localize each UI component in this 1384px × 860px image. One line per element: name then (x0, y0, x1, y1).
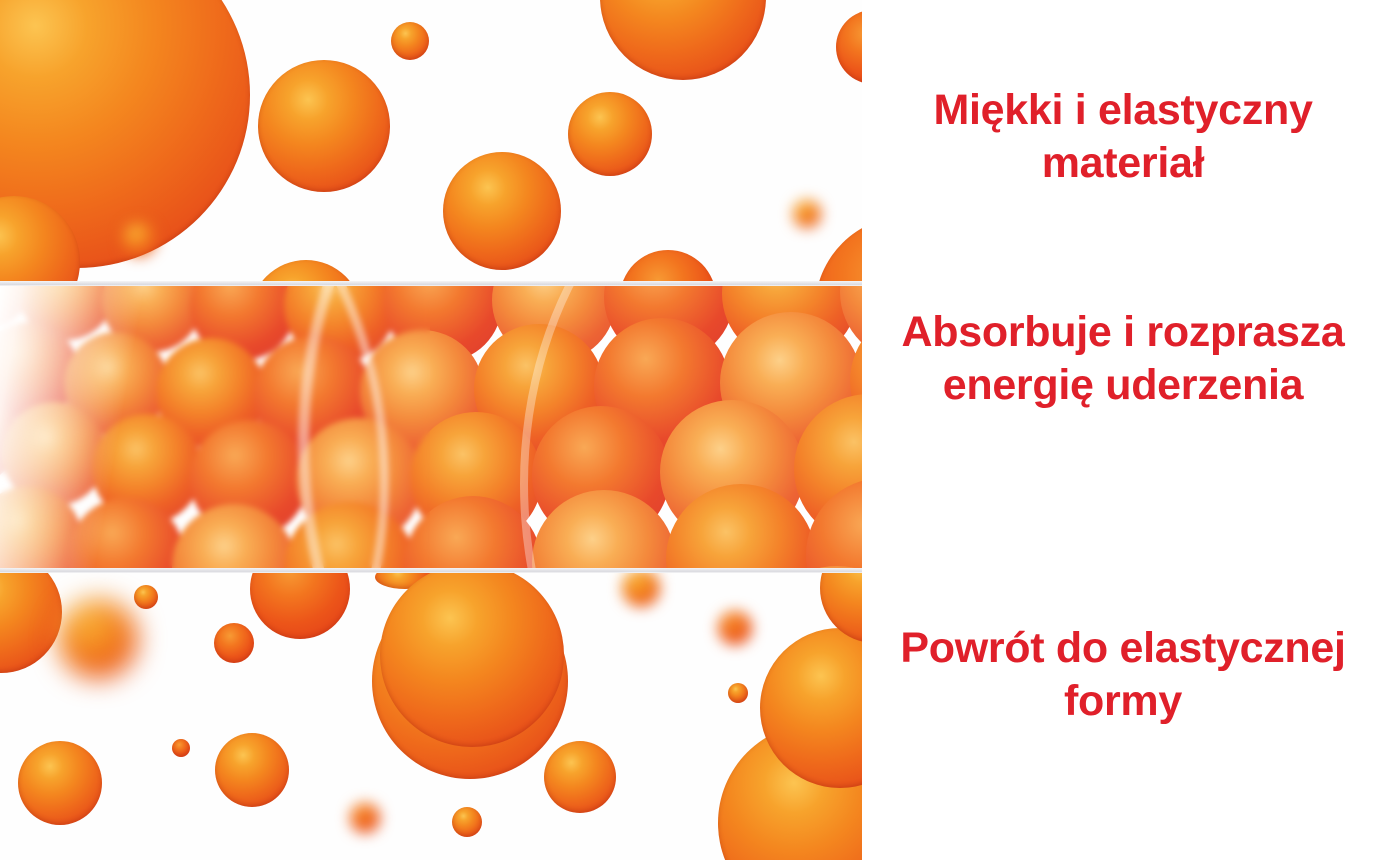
sphere (836, 10, 862, 84)
sphere (622, 573, 660, 607)
feature-returns-to-elastic-shape: Powrót do elastycznej formy (862, 622, 1384, 728)
sphere (134, 585, 158, 609)
sphere (250, 260, 362, 281)
sphere (391, 22, 429, 60)
sphere (350, 803, 380, 833)
sphere (214, 623, 254, 663)
sphere (544, 741, 616, 813)
feature-soft-elastic-material: Miękki i elastyczny materiał (862, 84, 1384, 190)
sphere (718, 611, 752, 645)
product-image-column (0, 0, 862, 860)
sphere (0, 573, 62, 673)
sphere (815, 216, 862, 281)
top-panel (0, 0, 862, 281)
foam-cell-grid (0, 286, 862, 568)
sphere (58, 599, 138, 679)
promo-graphic: Miękki i elastyczny materiał Absorbuje i… (0, 0, 1384, 860)
sphere (568, 92, 652, 176)
middle-panel-foam-structure (0, 286, 862, 568)
sphere (728, 683, 748, 703)
sphere (600, 0, 766, 80)
sphere (258, 60, 390, 192)
sphere (172, 739, 190, 757)
sphere (443, 152, 561, 270)
feature-absorbs-disperses-impact-energy: Absorbuje i rozprasza energię uderzenia (862, 306, 1384, 412)
sphere (793, 200, 821, 228)
sphere (620, 250, 716, 281)
sphere (215, 733, 289, 807)
sphere (122, 222, 156, 256)
feature-text-column: Miękki i elastyczny materiał Absorbuje i… (862, 0, 1384, 860)
bottom-panel (0, 573, 862, 860)
sphere (18, 741, 102, 825)
sphere (250, 573, 350, 639)
sphere (452, 807, 482, 837)
